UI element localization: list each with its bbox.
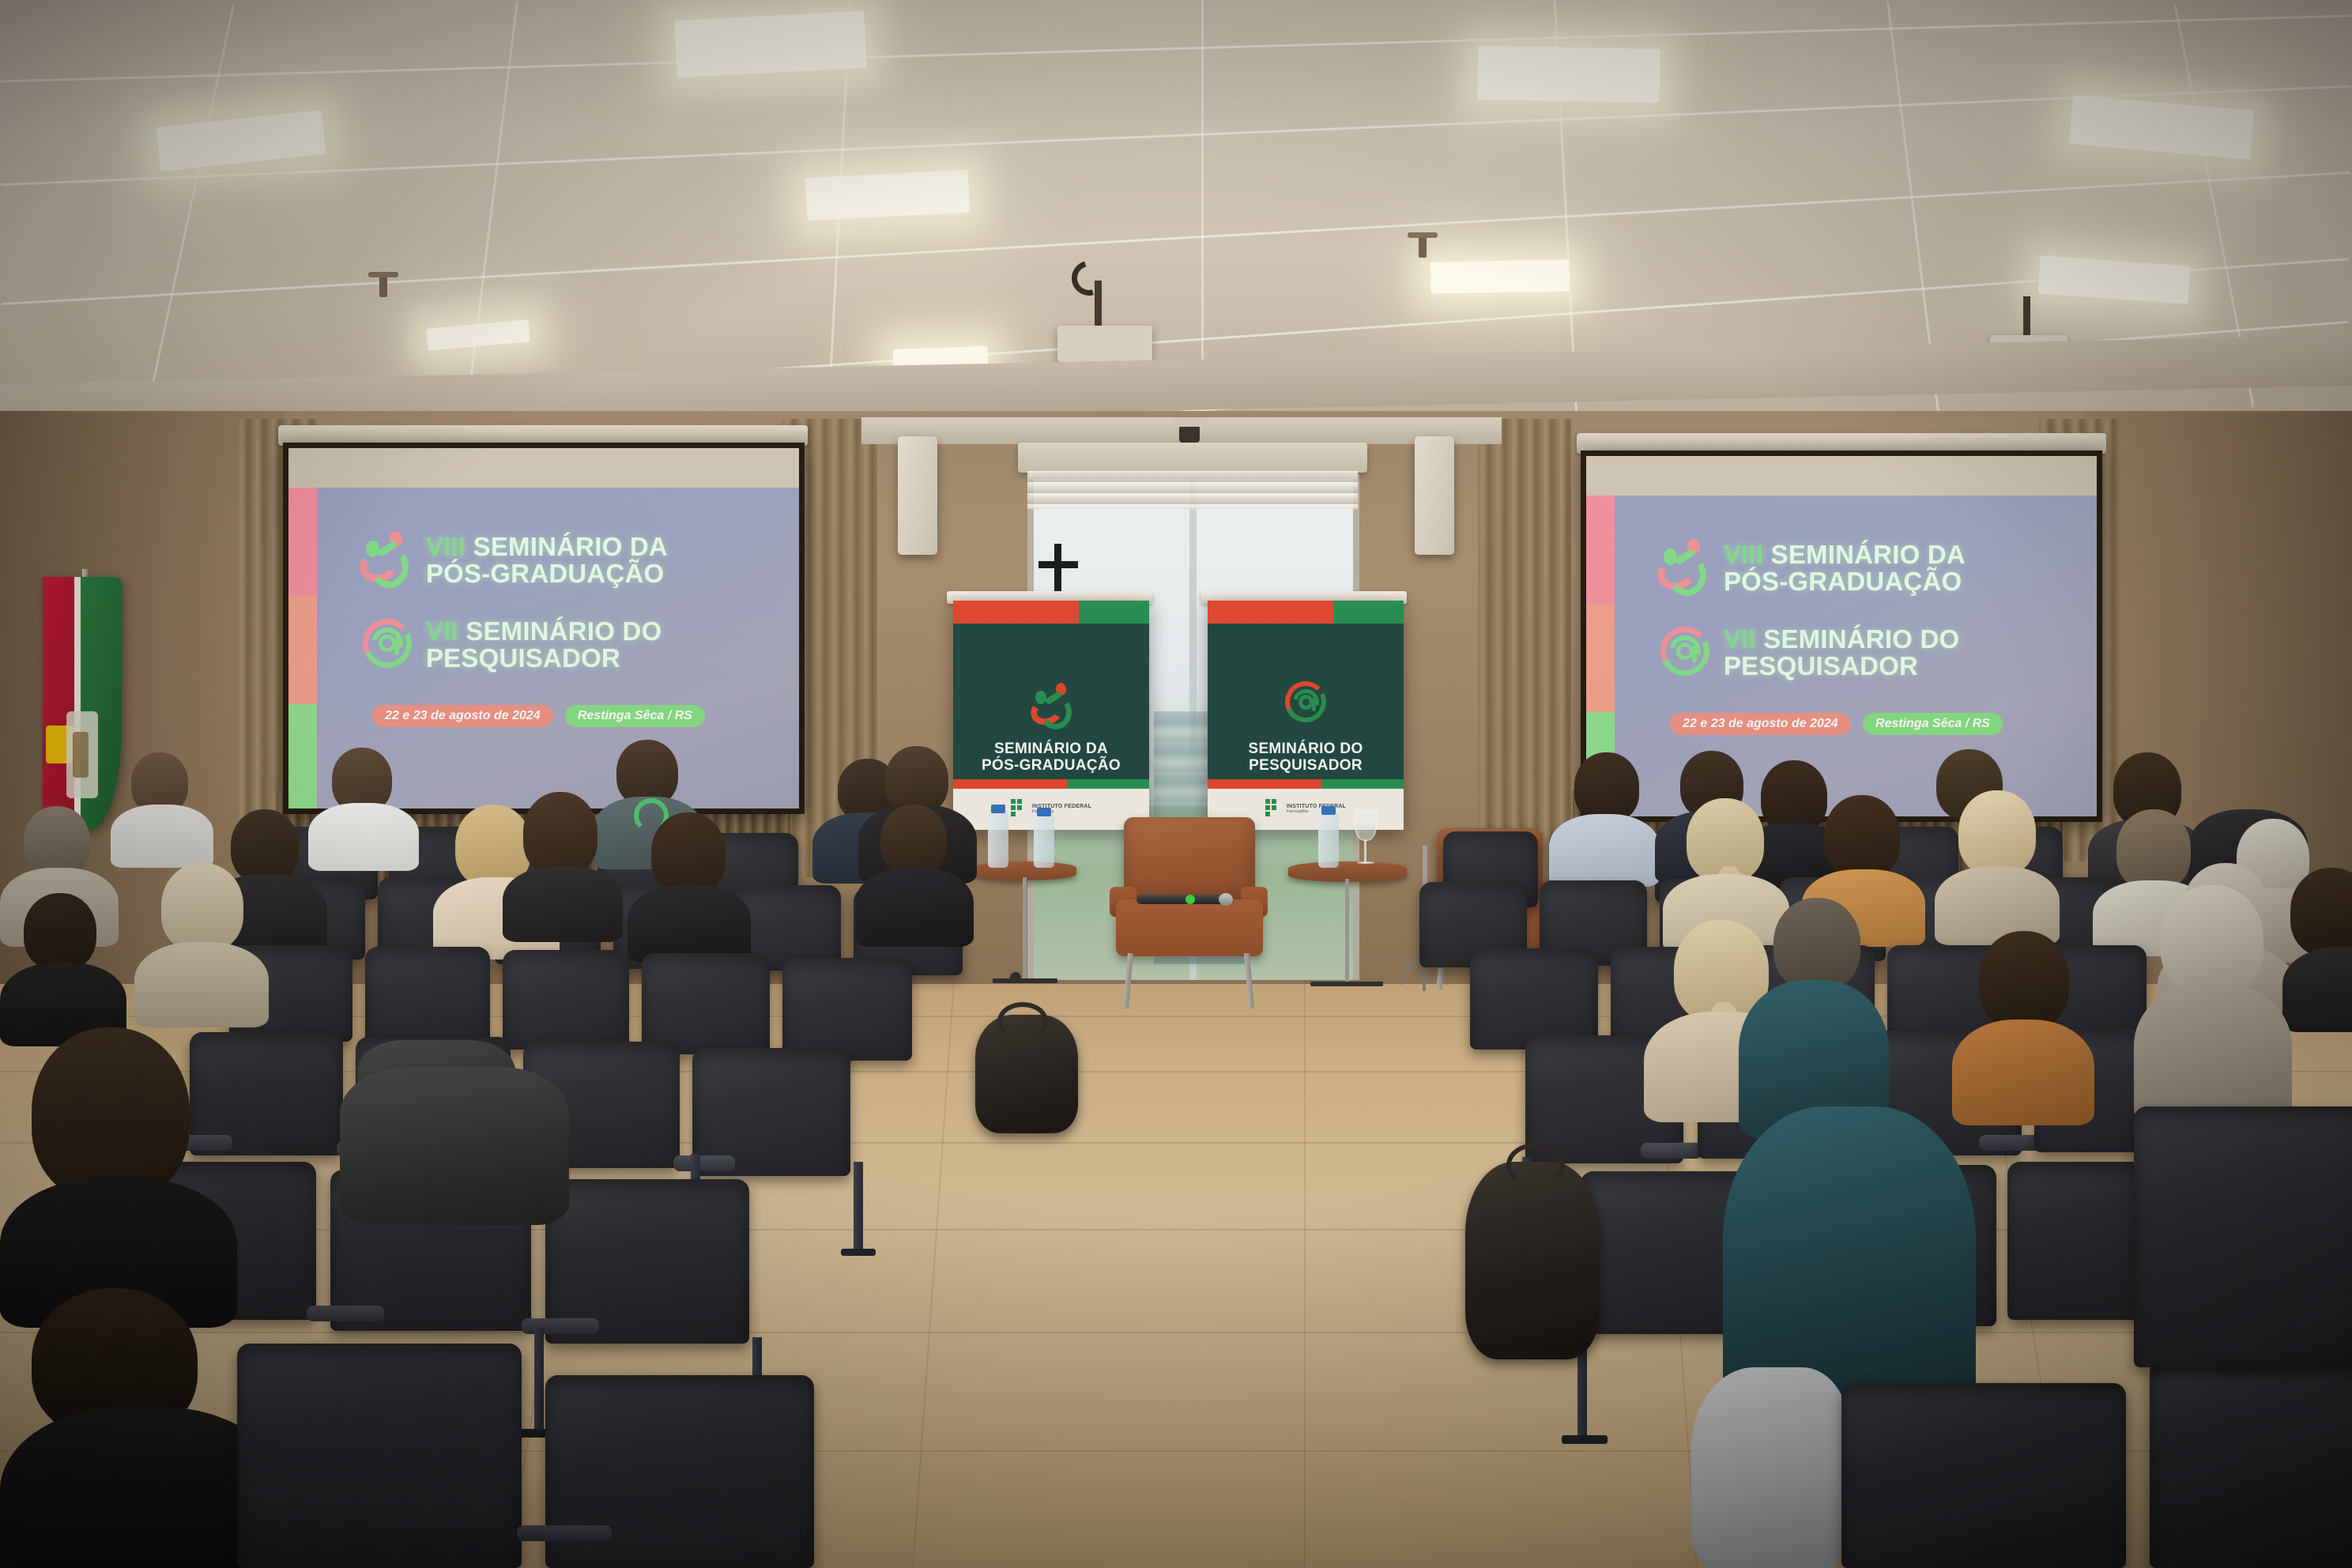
slide-event-row-2: VII SEMINÁRIO DO PESQUISADOR bbox=[360, 614, 773, 676]
slide-title-1b: PÓS-GRADUAÇÃO bbox=[1724, 567, 1962, 596]
seat[interactable] bbox=[545, 1179, 749, 1344]
banner-left-line-1: SEMINÁRIO DA bbox=[994, 741, 1108, 757]
security-camera bbox=[1179, 425, 1200, 443]
slide-title-1b: PÓS-GRADUAÇÃO bbox=[426, 559, 664, 588]
banner-topbar-green bbox=[1079, 601, 1149, 624]
slide-numeral-1: VIII bbox=[426, 532, 465, 561]
seat[interactable] bbox=[365, 947, 490, 1045]
ceiling-light-panel bbox=[1477, 46, 1660, 103]
audience-member bbox=[0, 893, 126, 1043]
ceiling-light-panel bbox=[805, 170, 971, 221]
banner-posgraduacao: SEMINÁRIO DA PÓS-GRADUAÇÃO INSTITUTO FED… bbox=[953, 601, 1149, 830]
banner-left-text: SEMINÁRIO DA PÓS-GRADUAÇÃO bbox=[953, 741, 1149, 774]
side-table-left bbox=[974, 861, 1076, 996]
slide-location-badge: Restinga Sêca / RS bbox=[565, 705, 705, 727]
auditorium-scene: VIII SEMINÁRIO DA PÓS-GRADUAÇÃO VII bbox=[0, 0, 2352, 1568]
seat-foreground[interactable] bbox=[2134, 1106, 2352, 1367]
water-bottle[interactable] bbox=[1034, 814, 1054, 868]
banner-pesquisador: SEMINÁRIO DO PESQUISADOR INSTITUTO FEDER… bbox=[1208, 601, 1404, 830]
slide-date-badge: 22 e 23 de agosto de 2024 bbox=[1670, 713, 1851, 735]
slide-title-2b: PESQUISADOR bbox=[426, 643, 620, 673]
projector-cable bbox=[1065, 254, 1113, 302]
backpack-strap bbox=[1506, 1143, 1565, 1187]
water-bottle[interactable] bbox=[1318, 812, 1339, 868]
slide-title-2a: SEMINÁRIO DO bbox=[1763, 624, 1959, 654]
wall-speaker-left bbox=[898, 436, 937, 555]
banner-topbar-green bbox=[1333, 601, 1404, 624]
stage-armchair[interactable] bbox=[1110, 817, 1268, 1015]
seat-foreground[interactable] bbox=[545, 1375, 814, 1568]
slide-numeral-2: VII bbox=[426, 616, 458, 646]
slide-location-badge: Restinga Sêca / RS bbox=[1863, 713, 2003, 735]
posgraduacao-banner-logo-icon bbox=[1031, 681, 1078, 730]
ceiling-light-panel bbox=[674, 11, 866, 77]
audience-member-foreground bbox=[1739, 898, 1889, 1135]
audience-member bbox=[503, 792, 623, 934]
backpack-on-floor bbox=[1465, 1162, 1600, 1359]
audience-member-foreground bbox=[0, 1027, 237, 1320]
seat[interactable] bbox=[692, 1048, 850, 1176]
slide-numeral-2: VII bbox=[1724, 624, 1756, 654]
banner-right-line-1: SEMINÁRIO DO bbox=[1248, 741, 1363, 757]
seat-foreground[interactable] bbox=[1841, 1383, 2126, 1568]
audience-member bbox=[2282, 868, 2352, 1026]
seat-foreground[interactable] bbox=[2150, 1359, 2352, 1568]
audience-member bbox=[1952, 931, 2094, 1121]
posgraduacao-logo-icon bbox=[1657, 537, 1714, 599]
seat[interactable] bbox=[1470, 948, 1598, 1050]
audience-member bbox=[134, 863, 269, 1021]
audience-member bbox=[628, 812, 751, 955]
pesquisador-logo-icon bbox=[360, 614, 416, 676]
pesquisador-banner-logo-icon bbox=[1283, 680, 1329, 727]
window-blind-slats[interactable] bbox=[1027, 471, 1358, 509]
jacket-on-seat bbox=[340, 1067, 569, 1225]
ceiling bbox=[0, 0, 2352, 443]
seat-post bbox=[534, 1328, 544, 1435]
seat[interactable] bbox=[503, 950, 629, 1050]
ceiling-light-panel bbox=[156, 110, 326, 171]
slide-title-1a: SEMINÁRIO DA bbox=[473, 532, 668, 561]
wall-speaker-right bbox=[1415, 436, 1454, 555]
wine-glass[interactable] bbox=[1351, 809, 1380, 869]
banner-left-line-2: PÓS-GRADUAÇÃO bbox=[982, 757, 1121, 774]
audience-member bbox=[1549, 752, 1660, 874]
slide-title-2a: SEMINÁRIO DO bbox=[465, 616, 661, 646]
seat-post bbox=[854, 1162, 863, 1255]
water-bottle-cap bbox=[1037, 808, 1051, 816]
pesquisador-logo-icon bbox=[1657, 622, 1714, 684]
window-blind-roller[interactable] bbox=[1018, 443, 1367, 473]
audience-member bbox=[111, 752, 213, 863]
audience-member bbox=[1935, 790, 2060, 940]
banner-topbar-red bbox=[953, 601, 1079, 624]
seat[interactable] bbox=[782, 958, 912, 1061]
seat[interactable] bbox=[642, 953, 770, 1054]
seat-foot bbox=[841, 1249, 876, 1256]
banner-topbar-red bbox=[1208, 601, 1333, 624]
water-bottle-cap bbox=[991, 805, 1005, 813]
projector bbox=[1057, 326, 1152, 362]
ceiling-light-panel bbox=[1430, 259, 1570, 293]
slide-event-row-1: VIII SEMINÁRIO DA PÓS-GRADUAÇÃO bbox=[360, 530, 773, 591]
posgraduacao-logo-icon bbox=[360, 530, 416, 591]
slide-event-row-2: VII SEMINÁRIO DO PESQUISADOR bbox=[1657, 622, 2071, 684]
microphone-led bbox=[1185, 895, 1195, 904]
audience-member-foreground bbox=[2134, 885, 2292, 1114]
water-bottle-cap bbox=[1321, 806, 1336, 815]
fire-sprinkler bbox=[1419, 237, 1427, 258]
water-bottle[interactable] bbox=[988, 811, 1008, 868]
seat-foot bbox=[1562, 1435, 1608, 1444]
ceiling-light-panel bbox=[426, 319, 530, 350]
slide-title-1a: SEMINÁRIO DA bbox=[1771, 540, 1966, 569]
side-table-right bbox=[1288, 861, 1407, 1000]
fire-sprinkler bbox=[379, 277, 387, 297]
projector-arm bbox=[2023, 296, 2030, 337]
audience-member bbox=[855, 805, 974, 944]
handheld-microphone[interactable] bbox=[1136, 895, 1225, 904]
slide-event-row-1: VIII SEMINÁRIO DA PÓS-GRADUAÇÃO bbox=[1657, 537, 2071, 599]
bag-strap bbox=[997, 1002, 1048, 1040]
banner-right-text: SEMINÁRIO DO PESQUISADOR bbox=[1208, 741, 1404, 774]
slide-numeral-1: VIII bbox=[1724, 540, 1763, 569]
seat-foreground[interactable] bbox=[237, 1344, 522, 1568]
slide-date-badge: 22 e 23 de agosto de 2024 bbox=[372, 705, 553, 727]
microphone-capsule bbox=[1219, 893, 1233, 906]
ceiling-light-panel bbox=[2038, 255, 2191, 303]
ceiling-light-panel bbox=[2069, 95, 2255, 160]
crucifix-crossbar bbox=[1038, 561, 1078, 568]
banner-right-line-2: PESQUISADOR bbox=[1249, 757, 1363, 774]
slide-title-2b: PESQUISADOR bbox=[1724, 651, 1918, 680]
